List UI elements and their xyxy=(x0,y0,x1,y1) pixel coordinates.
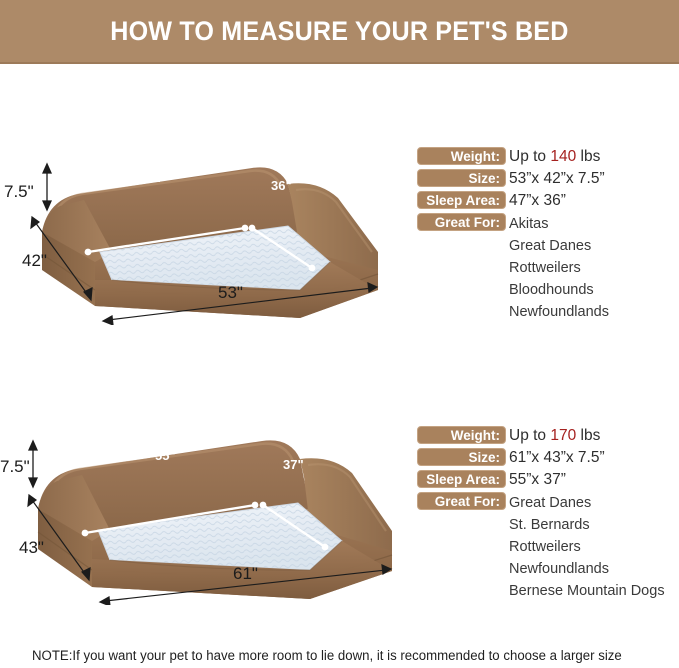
spec-row-sleep-area: Sleep Area: 55”x 37” xyxy=(417,470,665,492)
label-weight: Weight: xyxy=(417,426,506,444)
breed-item: Newfoundlands xyxy=(509,301,609,323)
spec-row-great-for: Great For: Akitas xyxy=(417,213,609,235)
infographic-page: HOW TO MEASURE YOUR PET'S BED xyxy=(0,0,679,668)
bed-illustration-xlarge xyxy=(0,415,410,605)
spec-row-sleep-area: Sleep Area: 47”x 36” xyxy=(417,191,609,213)
spec-row-size: Size: 61”x 43”x 7.5” xyxy=(417,448,665,470)
footer-note: NOTE:If you want your pet to have more r… xyxy=(32,648,622,663)
value-weight: Up to 140 lbs xyxy=(509,147,600,166)
label-weight: Weight: xyxy=(417,147,506,165)
spec-row-size: Size: 53”x 42”x 7.5” xyxy=(417,169,609,191)
breed-item: Akitas xyxy=(509,213,549,235)
spec-row-weight: Weight: Up to 170 lbs xyxy=(417,426,665,448)
breed-item: Bloodhounds xyxy=(509,279,609,301)
breed-list-xlarge: St. Bernards Rottweilers Newfoundlands B… xyxy=(509,514,665,602)
dim-label-sleep-depth-2: 37" xyxy=(283,457,304,472)
breed-item: Rottweilers xyxy=(509,536,665,558)
label-size: Size: xyxy=(417,448,506,466)
value-size: 53”x 42”x 7.5” xyxy=(509,169,605,188)
breed-item: Bernese Mountain Dogs xyxy=(509,580,665,602)
spec-row-weight: Weight: Up to 140 lbs xyxy=(417,147,609,169)
weight-suffix: lbs xyxy=(576,427,600,444)
label-great-for: Great For: xyxy=(417,492,506,510)
dim-label-sleep-width-2: 55" xyxy=(155,448,176,463)
dim-line-height xyxy=(29,441,37,487)
value-weight: Up to 170 lbs xyxy=(509,426,600,445)
spec-row-great-for: Great For: Great Danes xyxy=(417,492,665,514)
dim-label-sleep-depth-1: 36" xyxy=(271,178,292,193)
weight-number: 140 xyxy=(550,148,576,165)
label-sleep-area: Sleep Area: xyxy=(417,470,506,488)
dim-label-height-1: 7.5" xyxy=(4,182,34,202)
bed-xlarge-svg xyxy=(0,415,410,605)
breed-item: Newfoundlands xyxy=(509,558,665,580)
weight-prefix: Up to xyxy=(509,427,550,444)
value-size: 61”x 43”x 7.5” xyxy=(509,448,605,467)
breed-item: St. Bernards xyxy=(509,514,665,536)
dim-label-width-2: 61" xyxy=(233,564,258,584)
header-banner: HOW TO MEASURE YOUR PET'S BED xyxy=(0,0,679,64)
spec-table-large: Weight: Up to 140 lbs Size: 53”x 42”x 7.… xyxy=(417,147,609,323)
dim-label-depth-2: 43" xyxy=(19,538,44,558)
weight-prefix: Up to xyxy=(509,148,550,165)
page-title: HOW TO MEASURE YOUR PET'S BED xyxy=(110,16,568,47)
weight-suffix: lbs xyxy=(576,148,600,165)
dim-label-depth-1: 42" xyxy=(22,251,47,271)
label-great-for: Great For: xyxy=(417,213,506,231)
dim-line-height xyxy=(43,164,51,210)
label-size: Size: xyxy=(417,169,506,187)
dim-label-width-1: 53" xyxy=(218,283,243,303)
value-sleep-area: 55”x 37” xyxy=(509,470,566,489)
dim-label-height-2: 7.5" xyxy=(0,457,30,477)
dim-label-sleep-width-1: 47" xyxy=(149,170,170,185)
weight-number: 170 xyxy=(550,427,576,444)
breed-list-large: Great Danes Rottweilers Bloodhounds Newf… xyxy=(509,235,609,323)
label-sleep-area: Sleep Area: xyxy=(417,191,506,209)
breed-item: Great Danes xyxy=(509,492,591,514)
value-sleep-area: 47”x 36” xyxy=(509,191,566,210)
bed-large-svg xyxy=(0,140,410,325)
breed-item: Great Danes xyxy=(509,235,609,257)
breed-item: Rottweilers xyxy=(509,257,609,279)
bed-illustration-large xyxy=(0,140,410,325)
spec-table-xlarge: Weight: Up to 170 lbs Size: 61”x 43”x 7.… xyxy=(417,426,665,602)
